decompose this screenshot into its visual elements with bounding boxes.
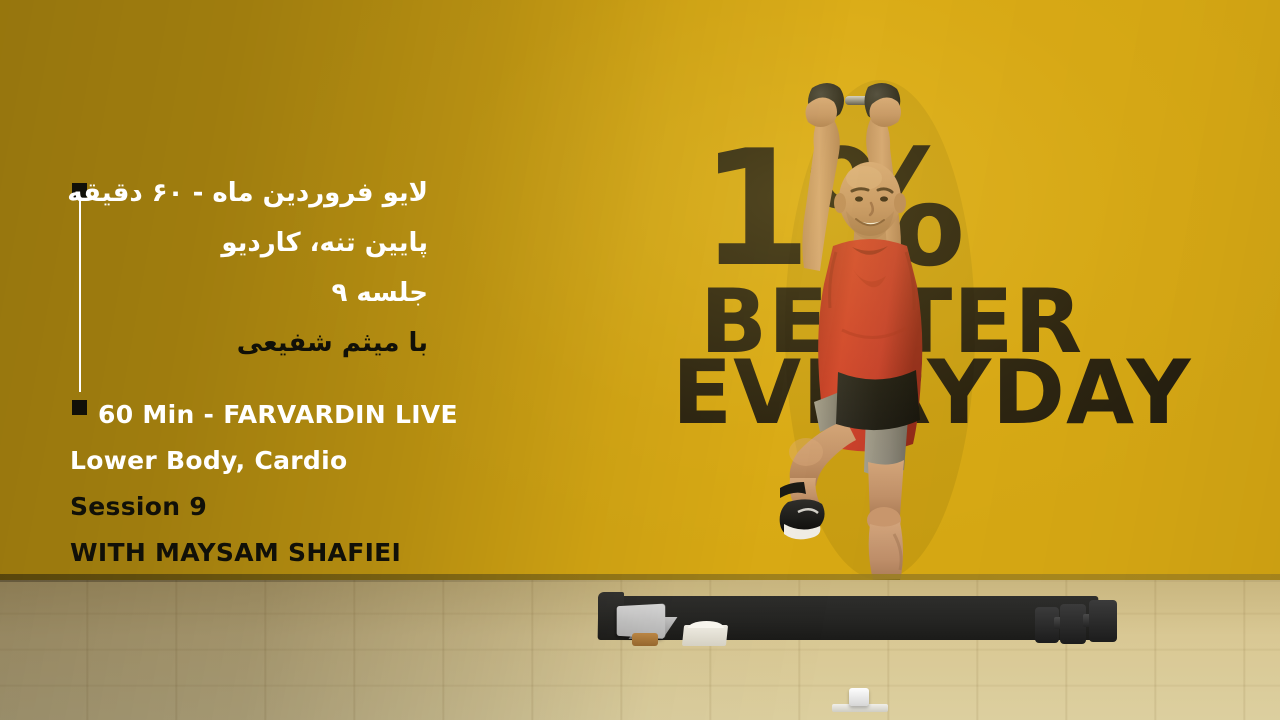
english-line-4: WITH MAYSAM SHAFIEI — [70, 530, 540, 576]
persian-line-1: لایو فروردین ماه - ۶۰ دقیقه — [92, 168, 428, 218]
persian-line-3: جلسه ۹ — [92, 268, 428, 318]
english-line-2: Lower Body, Cardio — [70, 438, 540, 484]
persian-title-block: لایو فروردین ماه - ۶۰ دقیقه پایین تنه، ک… — [92, 168, 428, 368]
english-line-3: Session 9 — [70, 484, 540, 530]
persian-line-4: با میثم شفیعی — [92, 318, 428, 368]
vertical-divider-line — [79, 200, 81, 392]
persian-line-2: پایین تنه، کاردیو — [92, 218, 428, 268]
english-title-block: 60 Min - FARVARDIN LIVE Lower Body, Card… — [70, 392, 540, 576]
video-frame: 1% BETTER EVERYDAY — [0, 0, 1280, 720]
english-line-1: 60 Min - FARVARDIN LIVE — [70, 392, 540, 438]
title-overlay: لایو فروردین ماه - ۶۰ دقیقه پایین تنه، ک… — [0, 0, 560, 720]
